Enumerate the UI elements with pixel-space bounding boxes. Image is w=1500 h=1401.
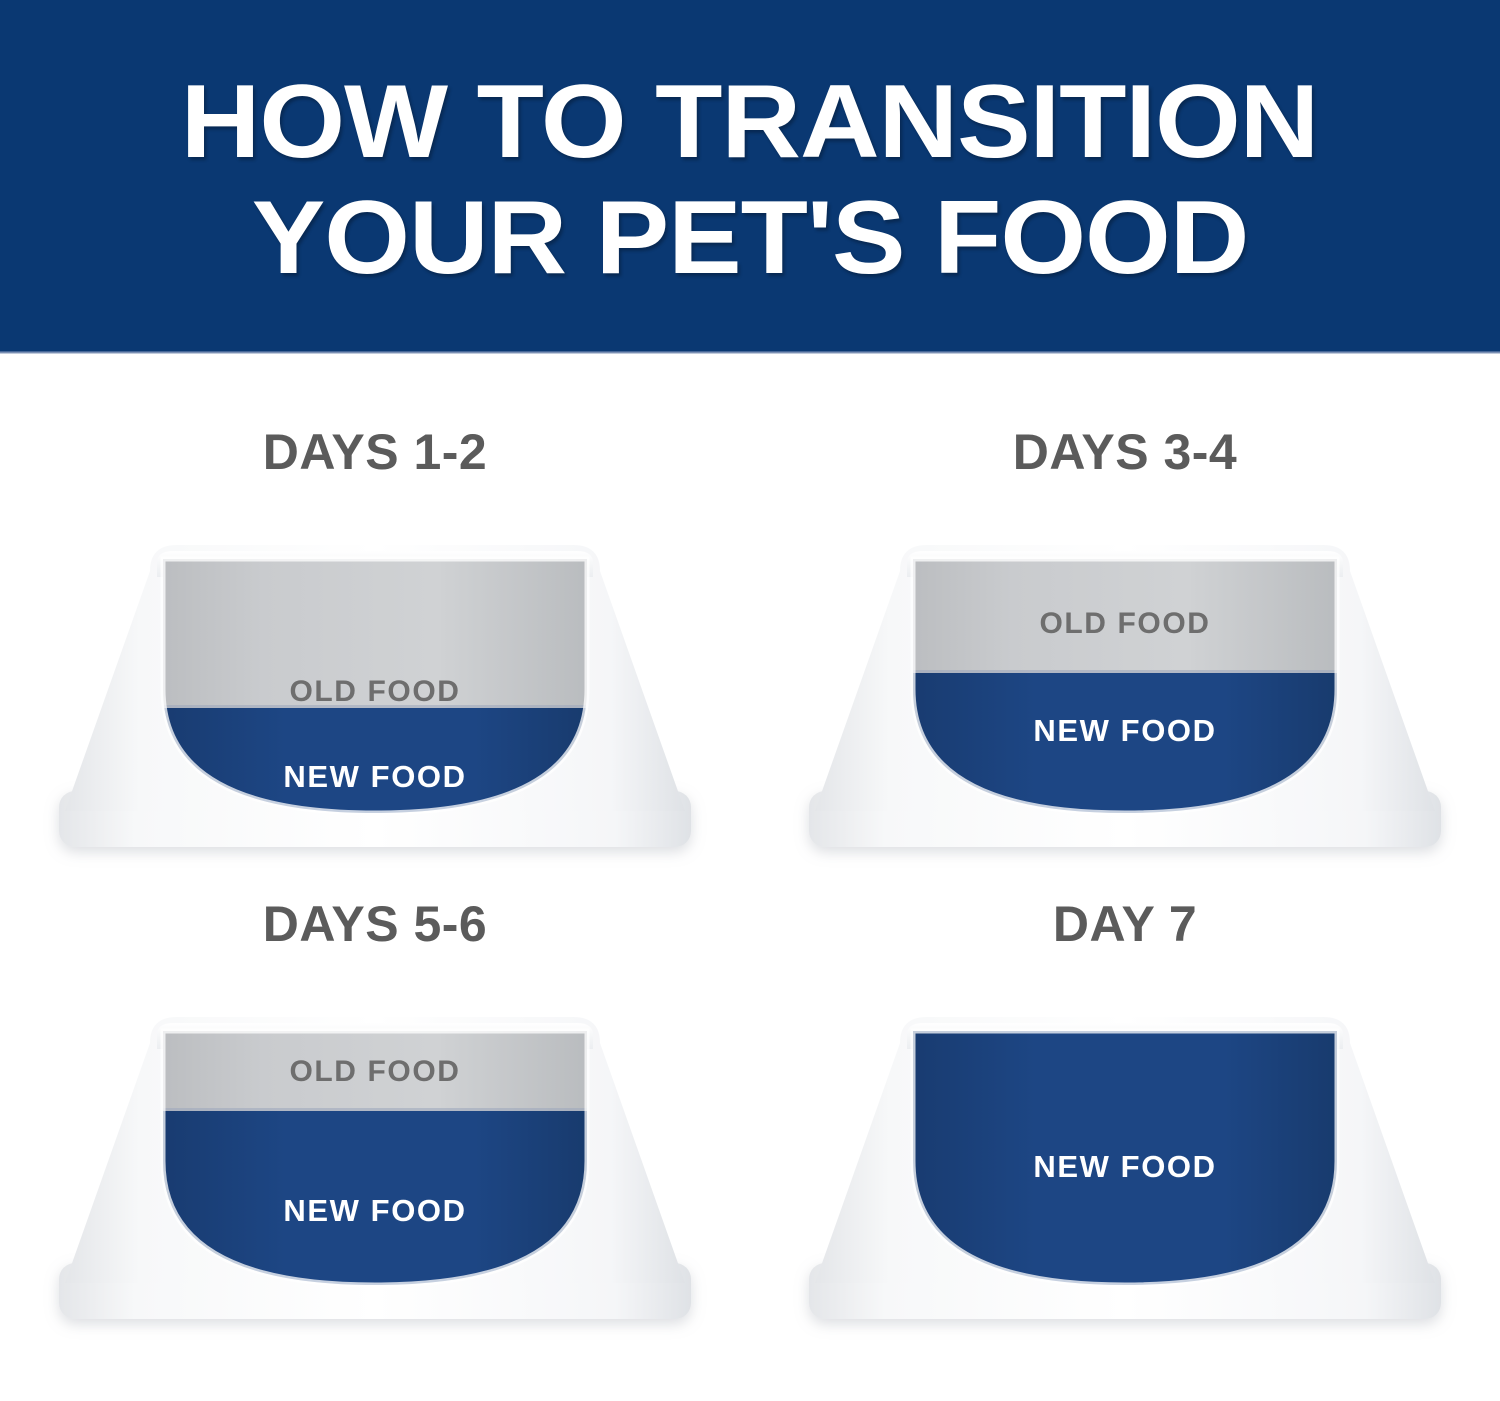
food-divider-line [895, 670, 1365, 673]
bowl-days-1-2: OLD FOOD NEW FOOD [45, 493, 705, 873]
old-food-label: OLD FOOD [1039, 607, 1210, 640]
header-banner: HOW TO TRANSITION YOUR PET'S FOOD [0, 0, 1500, 353]
step-label-days-1-2: DAYS 1-2 [0, 423, 750, 481]
step-card-days-3-4: DAYS 3-4 [750, 353, 1500, 877]
old-food-label: OLD FOOD [289, 675, 460, 708]
bowl-days-5-6: OLD FOOD NEW FOOD [45, 965, 705, 1345]
new-food-label: NEW FOOD [283, 759, 466, 794]
old-food-label: OLD FOOD [289, 1055, 460, 1088]
step-card-days-5-6: DAYS 5-6 [0, 877, 750, 1401]
infographic-page: HOW TO TRANSITION YOUR PET'S FOOD DAYS 1… [0, 0, 1500, 1401]
page-title-line-2: YOUR PET'S FOOD [252, 186, 1248, 290]
steps-grid: DAYS 1-2 [0, 353, 1500, 1401]
bowl-days-3-4: OLD FOOD NEW FOOD [795, 493, 1455, 873]
food-divider-line [145, 1108, 615, 1111]
new-food-label: NEW FOOD [283, 1193, 466, 1228]
new-food-label: NEW FOOD [1033, 713, 1216, 748]
step-label-days-5-6: DAYS 5-6 [0, 895, 750, 953]
bowl-day-7: NEW FOOD [795, 965, 1455, 1345]
step-card-days-1-2: DAYS 1-2 [0, 353, 750, 877]
step-label-day-7: DAY 7 [750, 895, 1500, 953]
step-label-days-3-4: DAYS 3-4 [750, 423, 1500, 481]
step-card-day-7: DAY 7 [750, 877, 1500, 1401]
page-title-line-1: HOW TO TRANSITION [181, 70, 1318, 174]
new-food-label: NEW FOOD [1033, 1149, 1216, 1184]
